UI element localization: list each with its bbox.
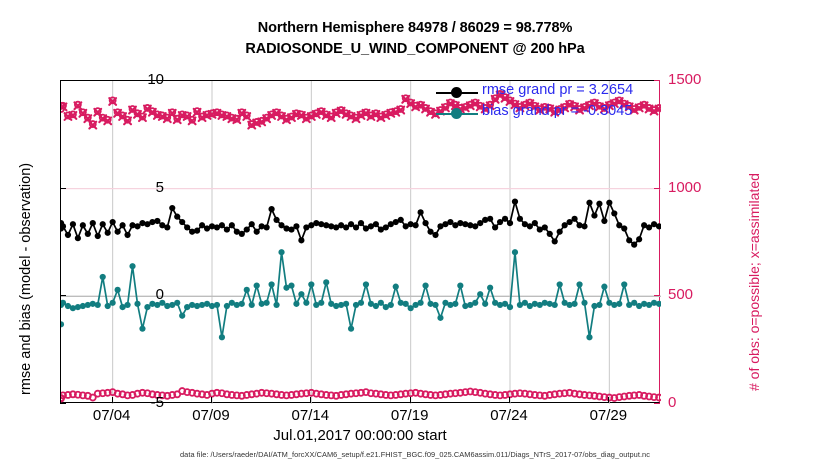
legend-label-rmse: rmse grand pr = 3.2654	[482, 82, 633, 98]
series-marker	[596, 201, 602, 207]
series-marker	[293, 223, 299, 229]
series-marker	[254, 229, 260, 235]
series-marker	[273, 302, 279, 308]
legend-item-bias[interactable]: bias grand pr = -0.3045	[430, 103, 670, 124]
series-marker	[95, 302, 101, 308]
series-marker	[219, 334, 225, 340]
series-marker	[110, 219, 116, 225]
series-marker	[437, 315, 443, 321]
series-marker	[487, 216, 493, 222]
series-marker	[606, 200, 612, 206]
x-axis-tick-mark	[112, 397, 113, 403]
series-marker	[532, 220, 538, 226]
right-axis-tick-mark	[654, 80, 660, 81]
series-marker	[179, 313, 185, 319]
series-marker	[517, 216, 523, 222]
series-marker	[571, 216, 577, 222]
series-marker	[601, 284, 607, 290]
right-axis-tick-mark	[654, 295, 660, 296]
series-marker	[586, 334, 592, 340]
series-marker	[264, 224, 270, 230]
x-axis-tick-mark	[608, 397, 609, 403]
series-marker	[557, 229, 563, 235]
right-axis-tick-label: 1500	[668, 71, 738, 88]
right-axis-tick-label: 1000	[668, 179, 738, 196]
series-marker	[278, 249, 284, 255]
plot-canvas	[61, 81, 659, 402]
left-axis-tick-mark	[60, 403, 66, 404]
series-marker	[358, 220, 364, 226]
series-marker	[413, 222, 419, 228]
series-marker	[268, 206, 274, 212]
series-marker	[164, 224, 170, 230]
series-marker	[100, 221, 106, 227]
series-marker	[363, 281, 369, 287]
series-marker	[224, 226, 230, 232]
right-axis-tick-label: 0	[668, 394, 738, 411]
series-marker	[596, 302, 602, 308]
series-marker	[403, 301, 409, 307]
series-marker	[373, 221, 379, 227]
legend-label-bias: bias grand pr = -0.3045	[482, 103, 632, 119]
series-marker	[353, 224, 359, 230]
series-marker	[472, 300, 478, 306]
series-marker	[105, 230, 111, 236]
obs-possible-marker	[656, 395, 661, 401]
series-marker	[154, 218, 160, 224]
series-marker	[318, 300, 324, 306]
x-axis-tick-label: 07/29	[568, 407, 648, 424]
series-marker	[124, 232, 130, 238]
series-marker	[184, 224, 190, 230]
series-marker	[432, 232, 438, 238]
series-marker	[552, 238, 558, 244]
series-marker	[303, 300, 309, 306]
left-axis-tick-mark	[60, 188, 66, 189]
plot-window: Northern Hemisphere 84978 / 86029 = 98.7…	[0, 0, 830, 470]
series-marker	[477, 291, 483, 297]
series-marker	[616, 301, 622, 307]
series-marker	[591, 212, 597, 218]
left-axis-tick-mark	[60, 295, 66, 296]
series-marker	[482, 301, 488, 307]
series-marker	[169, 205, 175, 211]
title-line-2: RADIOSONDE_U_WIND_COMPONENT @ 200 hPa	[0, 39, 830, 60]
right-axis-tick-mark	[654, 188, 660, 189]
series-marker	[298, 237, 304, 243]
right-axis-tick-mark	[654, 403, 660, 404]
series-marker	[85, 231, 91, 237]
series-marker	[512, 198, 518, 204]
chart-svg	[61, 81, 661, 404]
legend-marker-rmse	[451, 87, 462, 98]
x-axis-tick-label: 07/24	[469, 407, 549, 424]
series-marker	[249, 302, 255, 308]
series-marker	[308, 281, 314, 287]
series-marker	[393, 284, 399, 290]
series-marker	[512, 249, 518, 255]
series-marker	[239, 231, 245, 237]
series-marker	[502, 216, 508, 222]
plot-area	[60, 80, 660, 403]
series-marker	[273, 217, 279, 223]
series-marker	[422, 282, 428, 288]
series-marker	[174, 214, 180, 220]
series-marker	[119, 222, 125, 228]
series-marker	[581, 223, 587, 229]
left-axis-label: rmse and bias (model - observation)	[18, 163, 34, 395]
series-marker	[70, 221, 76, 227]
series-marker	[90, 220, 96, 226]
series-marker	[547, 231, 553, 237]
series-marker	[422, 220, 428, 226]
right-axis-tick-label: 500	[668, 286, 738, 303]
x-axis-label: Jul.01,2017 00:00:00 start	[0, 427, 720, 444]
series-marker	[348, 326, 354, 332]
series-marker	[611, 210, 617, 216]
x-axis-tick-mark	[410, 397, 411, 403]
series-marker	[388, 302, 394, 308]
x-axis-tick-mark	[310, 397, 311, 403]
x-axis-tick-label: 07/09	[171, 407, 251, 424]
left-axis-tick-label: 0	[104, 286, 164, 303]
left-axis-tick-mark	[60, 80, 66, 81]
series-marker	[95, 233, 101, 239]
x-axis-tick-mark	[211, 397, 212, 403]
series-marker	[75, 235, 81, 241]
series-marker	[586, 200, 592, 206]
series-marker	[219, 222, 225, 228]
series-marker	[601, 218, 607, 224]
series-marker	[129, 263, 135, 269]
series-marker	[576, 281, 582, 287]
series-marker	[174, 300, 180, 306]
series-marker	[244, 287, 250, 293]
series-marker	[626, 237, 632, 243]
legend: rmse grand pr = 3.2654 bias grand pr = -…	[430, 82, 670, 128]
series-marker	[581, 300, 587, 306]
series-marker	[239, 301, 245, 307]
series-marker	[542, 224, 548, 230]
series-marker	[249, 221, 255, 227]
series-marker	[293, 301, 299, 307]
series-marker	[244, 226, 250, 232]
series-marker	[492, 224, 498, 230]
series-marker	[254, 282, 260, 288]
series-marker	[115, 229, 121, 235]
series-marker	[487, 285, 493, 291]
series-marker	[457, 282, 463, 288]
series-marker	[323, 279, 329, 285]
legend-item-rmse[interactable]: rmse grand pr = 3.2654	[430, 82, 670, 103]
right-axis-label: # of obs: o=possible; x=assimilated	[746, 173, 762, 391]
series-marker	[65, 232, 71, 238]
series-marker	[621, 225, 627, 231]
series-marker	[631, 242, 637, 248]
x-axis-tick-label: 07/14	[270, 407, 350, 424]
series-marker	[432, 302, 438, 308]
series-marker	[621, 281, 627, 287]
series-marker	[229, 222, 235, 228]
series-marker	[179, 219, 185, 225]
series-marker	[61, 321, 64, 327]
series-marker	[507, 220, 513, 226]
series-marker	[557, 281, 563, 287]
series-marker	[418, 300, 424, 306]
series-marker	[636, 236, 642, 242]
chart-title: Northern Hemisphere 84978 / 86029 = 98.7…	[0, 18, 830, 60]
data-file-footer: data file: /Users/raeder/DAI/ATM_forcXX/…	[0, 450, 830, 459]
series-marker	[194, 228, 200, 234]
series-marker	[418, 209, 424, 215]
series-marker	[268, 281, 274, 287]
title-line-1: Northern Hemisphere 84978 / 86029 = 98.7…	[0, 18, 830, 39]
x-axis-tick-mark	[509, 397, 510, 403]
series-marker	[214, 302, 220, 308]
x-axis-tick-label: 07/19	[370, 407, 450, 424]
series-marker	[552, 302, 558, 308]
series-marker	[298, 291, 304, 297]
series-marker	[571, 301, 577, 307]
series-marker	[358, 300, 364, 306]
x-axis-tick-label: 07/04	[72, 407, 152, 424]
series-marker	[288, 282, 294, 288]
series-marker	[264, 300, 270, 306]
left-axis-tick-label: 10	[104, 71, 164, 88]
series-marker	[139, 326, 145, 332]
legend-marker-bias	[451, 108, 462, 119]
left-axis-tick-label: 5	[104, 179, 164, 196]
series-marker	[398, 217, 404, 223]
series-marker	[100, 274, 106, 280]
series-marker	[452, 301, 458, 307]
series-marker	[507, 304, 513, 310]
series-marker	[378, 300, 384, 306]
series-marker	[80, 222, 86, 228]
series-marker	[343, 301, 349, 307]
